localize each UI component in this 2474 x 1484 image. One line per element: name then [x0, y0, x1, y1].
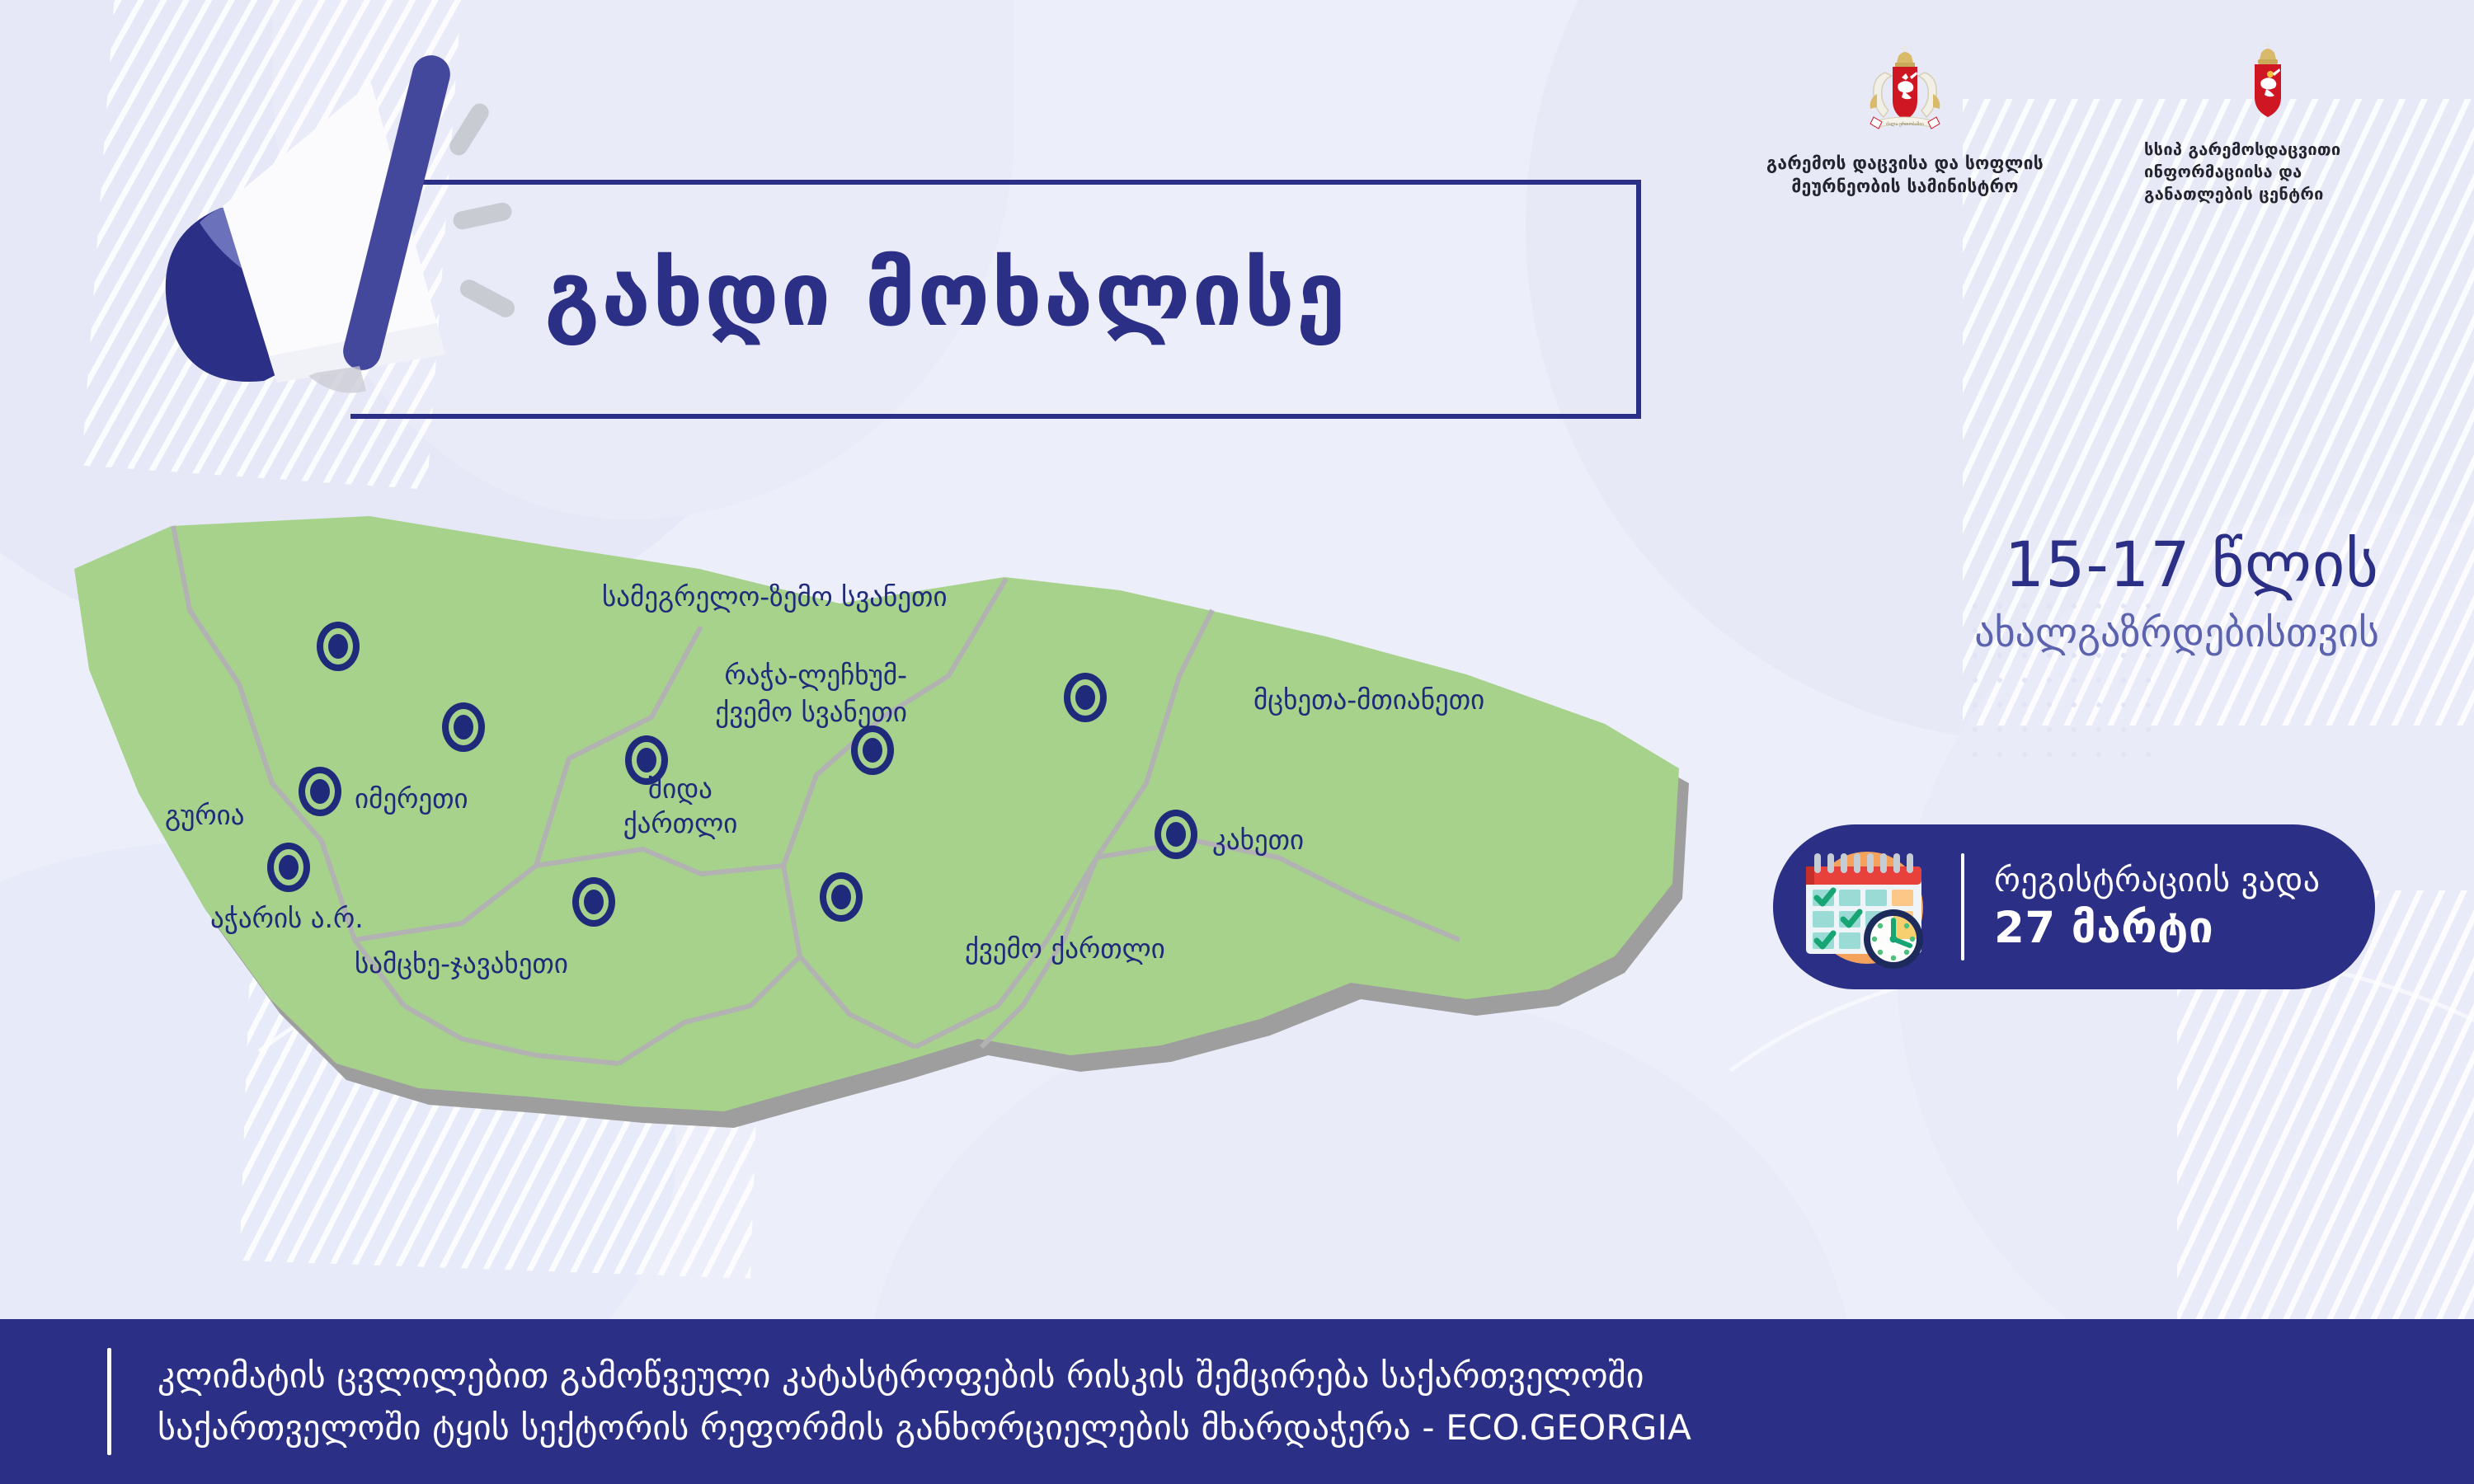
- audience-subject-text: ახალგაზრდებისთვის: [1974, 610, 2379, 656]
- banner-line-1: კლიმატის ცვლილებით გამოწვეული კატასტროფე…: [158, 1350, 1691, 1402]
- georgia-coat-of-arms-icon: ძალა ერთობაშია: [1855, 41, 1954, 140]
- map-label-shida-line2: ქართლი: [610, 808, 750, 840]
- map-pin: [1155, 810, 1197, 859]
- banner-line-2: საქართველოში ტყის სექტორის რეფორმის განხ…: [158, 1402, 1691, 1453]
- badge-divider: [1961, 853, 1964, 960]
- registration-deadline: 27 მარტი: [1994, 903, 2321, 953]
- georgia-shield-crown-icon: [2236, 41, 2299, 127]
- page-title: გახდი მოხალისე: [544, 243, 1348, 346]
- map-label-racha-line1: რაჭა-ლეჩხუმ-: [569, 660, 907, 692]
- center-logo: სსიპ გარემოსდაცვითიინფორმაციისა დაგანათლ…: [2144, 41, 2392, 205]
- project-banner: კლიმატის ცვლილებით გამოწვეული კატასტროფე…: [0, 1319, 2474, 1484]
- map-pin: [572, 877, 615, 927]
- header-logos: ძალა ერთობაშია გარემოს დაცვისა და სოფლის…: [1732, 41, 2392, 205]
- map-label-adjara: აჭარის ა.რ.: [210, 903, 364, 935]
- calendar-clock-icon: [1794, 837, 1943, 977]
- map-label-mtskheta: მცხეთა-მთიანეთი: [1253, 684, 1484, 716]
- ministry-logo: ძალა ერთობაშია გარემოს დაცვისა და სოფლის…: [1732, 41, 2078, 199]
- georgia-regions-map[interactable]: სამეგრელო-ზემო სვანეთი რაჭა-ლეჩხუმ- ქვემ…: [74, 511, 1773, 1220]
- map-pin: [820, 872, 863, 922]
- map-label-samegrelo: სამეგრელო-ზემო სვანეთი: [602, 581, 948, 613]
- map-pin: [299, 767, 341, 816]
- registration-label: რეგისტრაციის ვადა: [1994, 862, 2321, 899]
- age-range-text: 15-17 წლის: [2005, 528, 2379, 601]
- map-label-samtskhe: სამცხე-ჯავახეთი: [355, 948, 568, 980]
- registration-text: რეგისტრაციის ვადა 27 მარტი: [1994, 862, 2321, 953]
- map-pin: [317, 622, 360, 671]
- map-pin: [851, 726, 894, 775]
- svg-text:ძალა ერთობაშია: ძალა ერთობაშია: [1886, 121, 1924, 127]
- banner-accent-bar: [107, 1348, 111, 1455]
- map-label-shida-line1: შიდა: [610, 773, 750, 805]
- map-label-racha-line2: ქვემო სვანეთი: [569, 697, 907, 729]
- map-label-guria: გურია: [165, 800, 245, 832]
- map-label-kvemo-kartli: ქვემო ქართლი: [965, 933, 1165, 965]
- map-pin: [1064, 673, 1107, 722]
- megaphone-icon: [124, 33, 553, 429]
- registration-deadline-badge[interactable]: რეგისტრაციის ვადა 27 მარტი: [1773, 824, 2375, 989]
- ministry-logo-caption: გარემოს დაცვისა და სოფლისმეურნეობის სამი…: [1732, 152, 2078, 199]
- map-svg: [74, 511, 1773, 1220]
- map-pin: [267, 843, 310, 892]
- map-label-kakheti: კახეთი: [1212, 824, 1304, 857]
- map-label-imereti: იმერეთი: [355, 783, 468, 815]
- map-pin: [442, 702, 485, 752]
- banner-text: კლიმატის ცვლილებით გამოწვეული კატასტროფე…: [158, 1350, 1691, 1453]
- center-logo-caption: სსიპ გარემოსდაცვითიინფორმაციისა დაგანათლ…: [2144, 139, 2392, 205]
